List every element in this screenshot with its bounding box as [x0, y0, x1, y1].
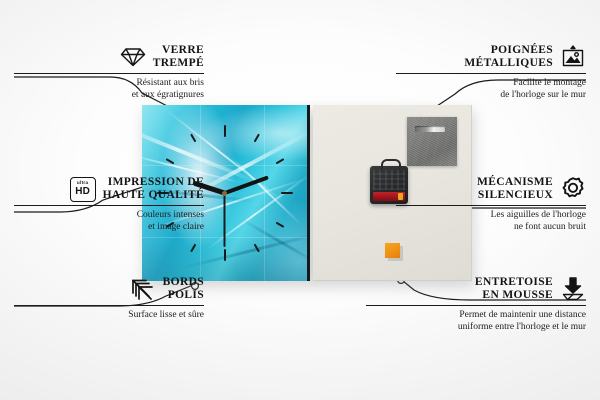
gear-icon — [560, 176, 586, 202]
feature-divider — [396, 73, 586, 74]
feature-title: VERRE TREMPÉ — [153, 44, 204, 70]
feature-title: MÉCANISME SILENCIEUX — [477, 176, 553, 202]
feature-title: BORDS POLIS — [163, 276, 204, 302]
foam-spacer-arrow-icon — [560, 276, 586, 302]
feature-divider — [14, 73, 204, 74]
ultra-hd-icon: ultra HD — [70, 176, 96, 202]
feature-description: Résistant aux bris et aux égratignures — [14, 78, 204, 101]
feature-divider — [14, 205, 204, 206]
feature-verre-trempe: VERRE TREMPÉ Résistant aux bris et aux é… — [14, 44, 204, 101]
feature-description: Couleurs intenses et image claire — [14, 210, 204, 233]
feature-bords-polis: BORDS POLIS Surface lisse et sûre — [14, 276, 204, 322]
feature-title: ENTRETOISE EN MOUSSE — [475, 276, 553, 302]
hanger-plate — [407, 117, 457, 166]
feature-divider — [396, 205, 586, 206]
clock-center-pin — [222, 191, 227, 196]
feature-impression-hd: ultra HD IMPRESSION DE HAUTE QUALITÉ Cou… — [14, 176, 204, 233]
diamond-icon — [120, 44, 146, 70]
feature-mecanisme-silencieux: MÉCANISME SILENCIEUX Les aiguilles de l'… — [396, 176, 586, 233]
feature-description: Les aiguilles de l'horloge ne font aucun… — [396, 210, 586, 233]
feature-divider — [366, 305, 586, 306]
picture-hanger-icon — [560, 44, 586, 70]
hanger-slot — [415, 126, 445, 132]
feature-description: Facilite le montage de l'horloge sur le … — [396, 78, 586, 101]
feature-entretoise-mousse: ENTRETOISE EN MOUSSE Permet de maintenir… — [366, 276, 586, 333]
feature-title: POIGNÉES MÉTALLIQUES — [464, 44, 553, 70]
feature-description: Permet de maintenir une distance uniform… — [366, 310, 586, 333]
clock-second-hand — [224, 193, 226, 247]
feature-title: IMPRESSION DE HAUTE QUALITÉ — [103, 176, 204, 202]
product-infographic: VERRE TREMPÉ Résistant aux bris et aux é… — [0, 0, 600, 400]
ultra-hd-icon-large-text: HD — [75, 187, 90, 197]
feature-divider — [14, 305, 204, 306]
feature-poignees-metalliques: POIGNÉES MÉTALLIQUES Facilite le montage… — [396, 44, 586, 101]
feature-description: Surface lisse et sûre — [14, 310, 204, 322]
polished-edges-icon — [130, 276, 156, 302]
foam-spacer — [385, 243, 400, 258]
